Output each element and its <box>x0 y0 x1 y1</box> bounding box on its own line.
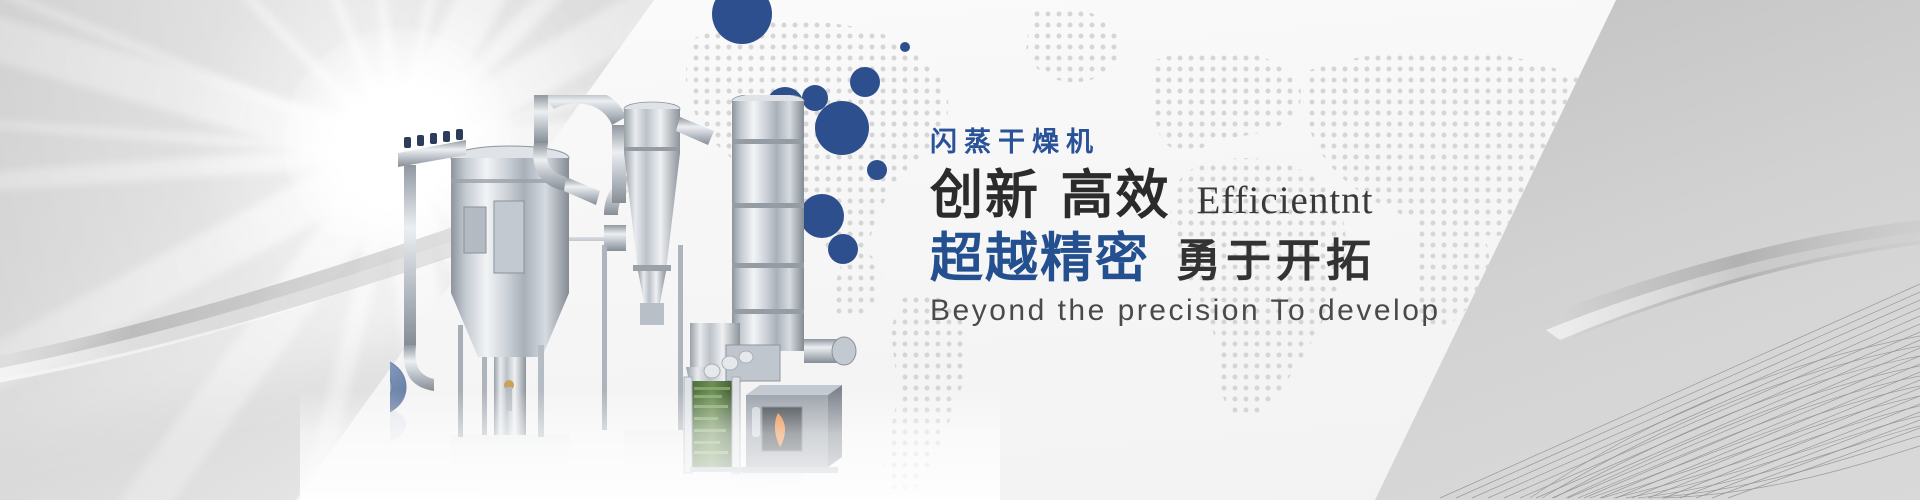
promo-banner: 闪蒸干燥机 创新 高效 Efficientnt 超越精密 勇于开拓 Beyond… <box>0 0 1920 500</box>
bubble <box>850 67 880 97</box>
headline-secondary-cn-blue: 超越精密 <box>930 229 1150 288</box>
bubble <box>900 42 910 52</box>
headline-primary-en: Efficientnt <box>1196 178 1373 223</box>
headline-row-2: 超越精密 勇于开拓 <box>930 229 1570 288</box>
headline-row-1: 创新 高效 Efficientnt <box>930 166 1570 225</box>
headline-secondary-cn-dark: 勇于开拓 <box>1176 236 1376 286</box>
flash-dryer-equipment-icon <box>390 95 870 500</box>
product-category-label: 闪蒸干燥机 <box>930 128 1570 158</box>
bubble <box>867 160 887 180</box>
headline-block: 闪蒸干燥机 创新 高效 Efficientnt 超越精密 勇于开拓 Beyond… <box>930 128 1570 328</box>
tagline-en: Beyond the precision To develop <box>930 294 1570 328</box>
headline-primary-cn: 创新 高效 <box>930 166 1170 225</box>
